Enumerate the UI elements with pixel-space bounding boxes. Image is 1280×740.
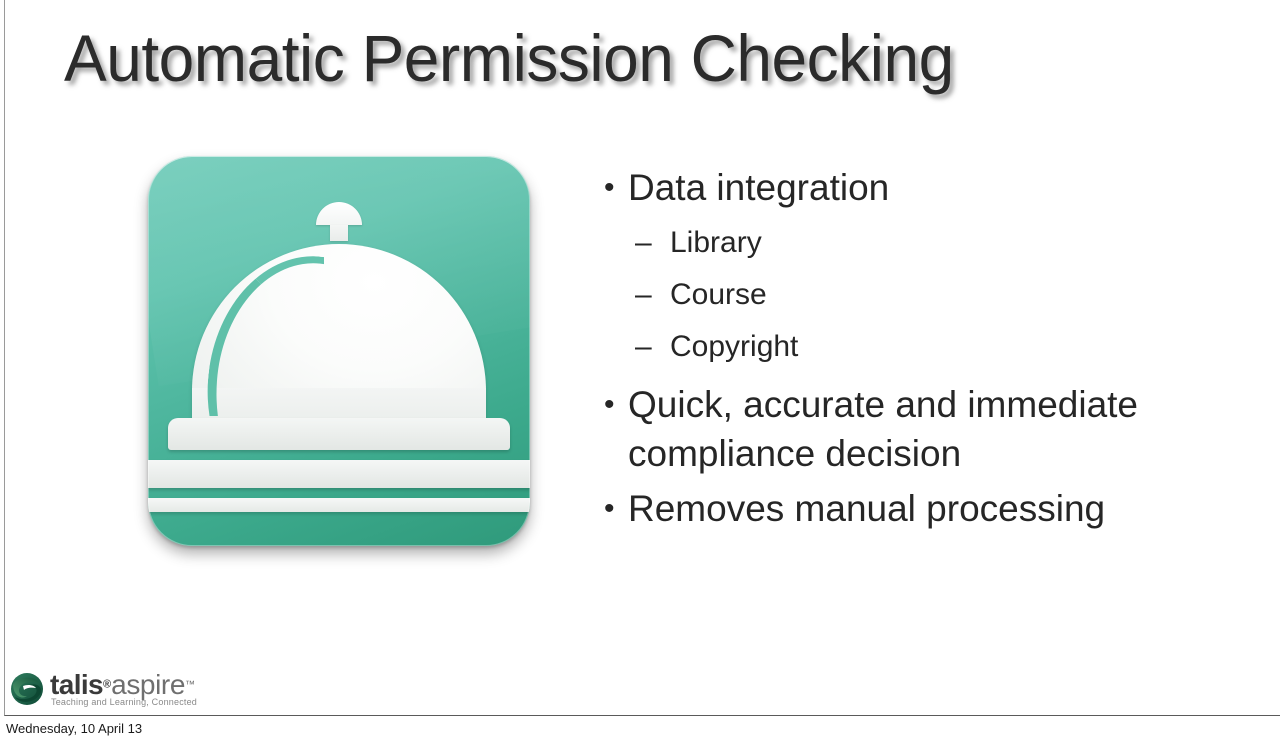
bullet-marker-icon: • [604, 163, 615, 212]
list-item: • Data integration [600, 163, 1240, 212]
logo-wordmark: talis®aspire™ [50, 669, 195, 699]
trademark-symbol-icon: ™ [185, 680, 195, 691]
bell-button-cap-icon [316, 202, 362, 225]
list-item-label: Removes manual processing [628, 488, 1105, 529]
list-item: – Course [600, 270, 1240, 319]
service-bell-icon-wrapper [148, 156, 530, 546]
list-item: • Removes manual processing [600, 484, 1240, 533]
list-item: – Copyright [600, 322, 1240, 371]
list-item-label: Quick, accurate and immediate compliance… [628, 384, 1138, 474]
logo-brand-secondary: aspire [111, 669, 185, 700]
list-item-label: Library [670, 226, 762, 259]
bell-plinth-icon [168, 418, 510, 450]
dash-marker-icon: – [635, 270, 652, 319]
bullet-marker-icon: • [604, 380, 615, 429]
list-item-label: Data integration [628, 167, 889, 208]
service-bell-app-icon [148, 156, 530, 546]
footer-date: Wednesday, 10 April 13 [6, 721, 142, 736]
bell-base-bar-thin-icon [148, 498, 530, 512]
list-item-label: Copyright [670, 330, 798, 363]
logo-tagline: Teaching and Learning, Connected [51, 697, 197, 707]
bell-button-stem-icon [330, 225, 348, 241]
page-title: Automatic Permission Checking [64, 18, 1131, 98]
bell-base-bar-thick-icon [148, 460, 530, 488]
talis-swirl-logo-icon [10, 672, 44, 706]
logo-brand-primary: talis [50, 669, 103, 700]
bullet-list: • Data integration – Library – Course – … [600, 163, 1240, 539]
list-item: • Quick, accurate and immediate complian… [600, 380, 1240, 478]
dash-marker-icon: – [635, 322, 652, 371]
registered-symbol-icon: ® [103, 679, 111, 691]
slide-root: Automatic Permission Checking • Data int… [0, 0, 1280, 740]
footer-logo: talis®aspire™ Teaching and Learning, Con… [10, 669, 250, 711]
dash-marker-icon: – [635, 218, 652, 267]
list-item-label: Course [670, 278, 767, 311]
bullet-marker-icon: • [604, 484, 615, 533]
list-item: – Library [600, 218, 1240, 267]
